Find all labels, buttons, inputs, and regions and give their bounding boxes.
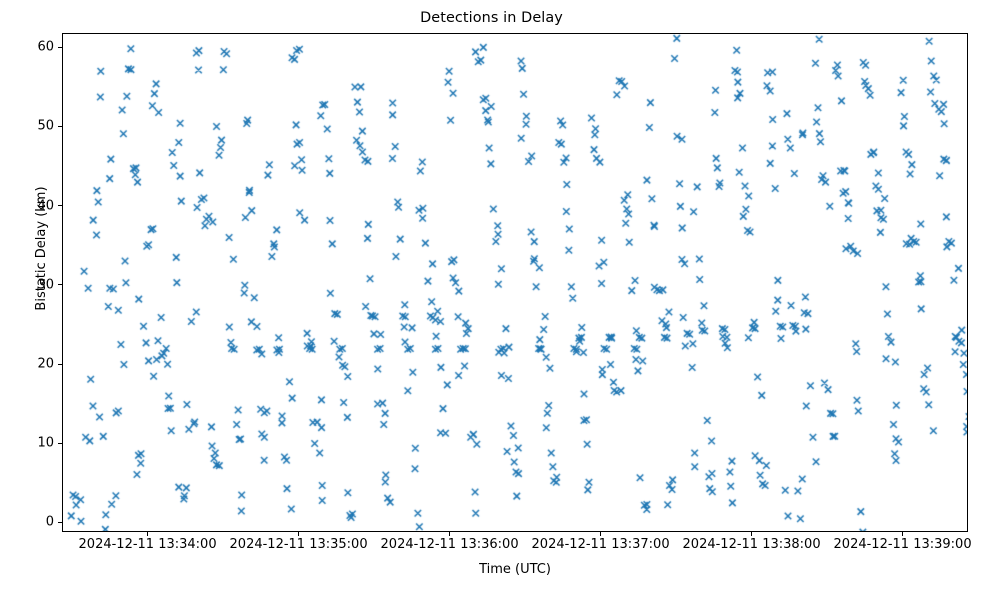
x-tick-mark [298, 532, 299, 536]
page-title: Detections in Delay [0, 10, 983, 26]
matplotlib-figure: Detections in Delay 0102030405060 2024-1… [0, 0, 983, 590]
y-tick-mark [58, 47, 62, 48]
x-tick-mark [902, 532, 903, 536]
y-axis-label: Bistatic Delay (km) [34, 0, 49, 498]
x-tick-mark [600, 532, 601, 536]
x-tick-mark [449, 532, 450, 536]
x-tick-label: 2024-12-11 13:35:00 [230, 537, 368, 552]
x-axis-label: Time (UTC) [62, 562, 968, 577]
x-tick-label: 2024-12-11 13:36:00 [381, 537, 519, 552]
y-tick-mark [58, 443, 62, 444]
y-tick-mark [58, 284, 62, 285]
x-tick-label: 2024-12-11 13:38:00 [683, 537, 821, 552]
x-axis-tick-labels: 2024-12-11 13:34:002024-12-11 13:35:0020… [0, 537, 983, 557]
y-tick-label: 0 [46, 515, 54, 530]
y-tick-mark [58, 364, 62, 365]
y-tick-mark [58, 522, 62, 523]
y-tick-mark [58, 205, 62, 206]
x-tick-mark [147, 532, 148, 536]
x-tick-mark [751, 532, 752, 536]
scatter-canvas [63, 34, 968, 532]
x-tick-label: 2024-12-11 13:34:00 [79, 537, 217, 552]
y-tick-mark [58, 126, 62, 127]
plot-area [62, 33, 968, 532]
x-tick-label: 2024-12-11 13:39:00 [834, 537, 972, 552]
x-tick-label: 2024-12-11 13:37:00 [532, 537, 670, 552]
